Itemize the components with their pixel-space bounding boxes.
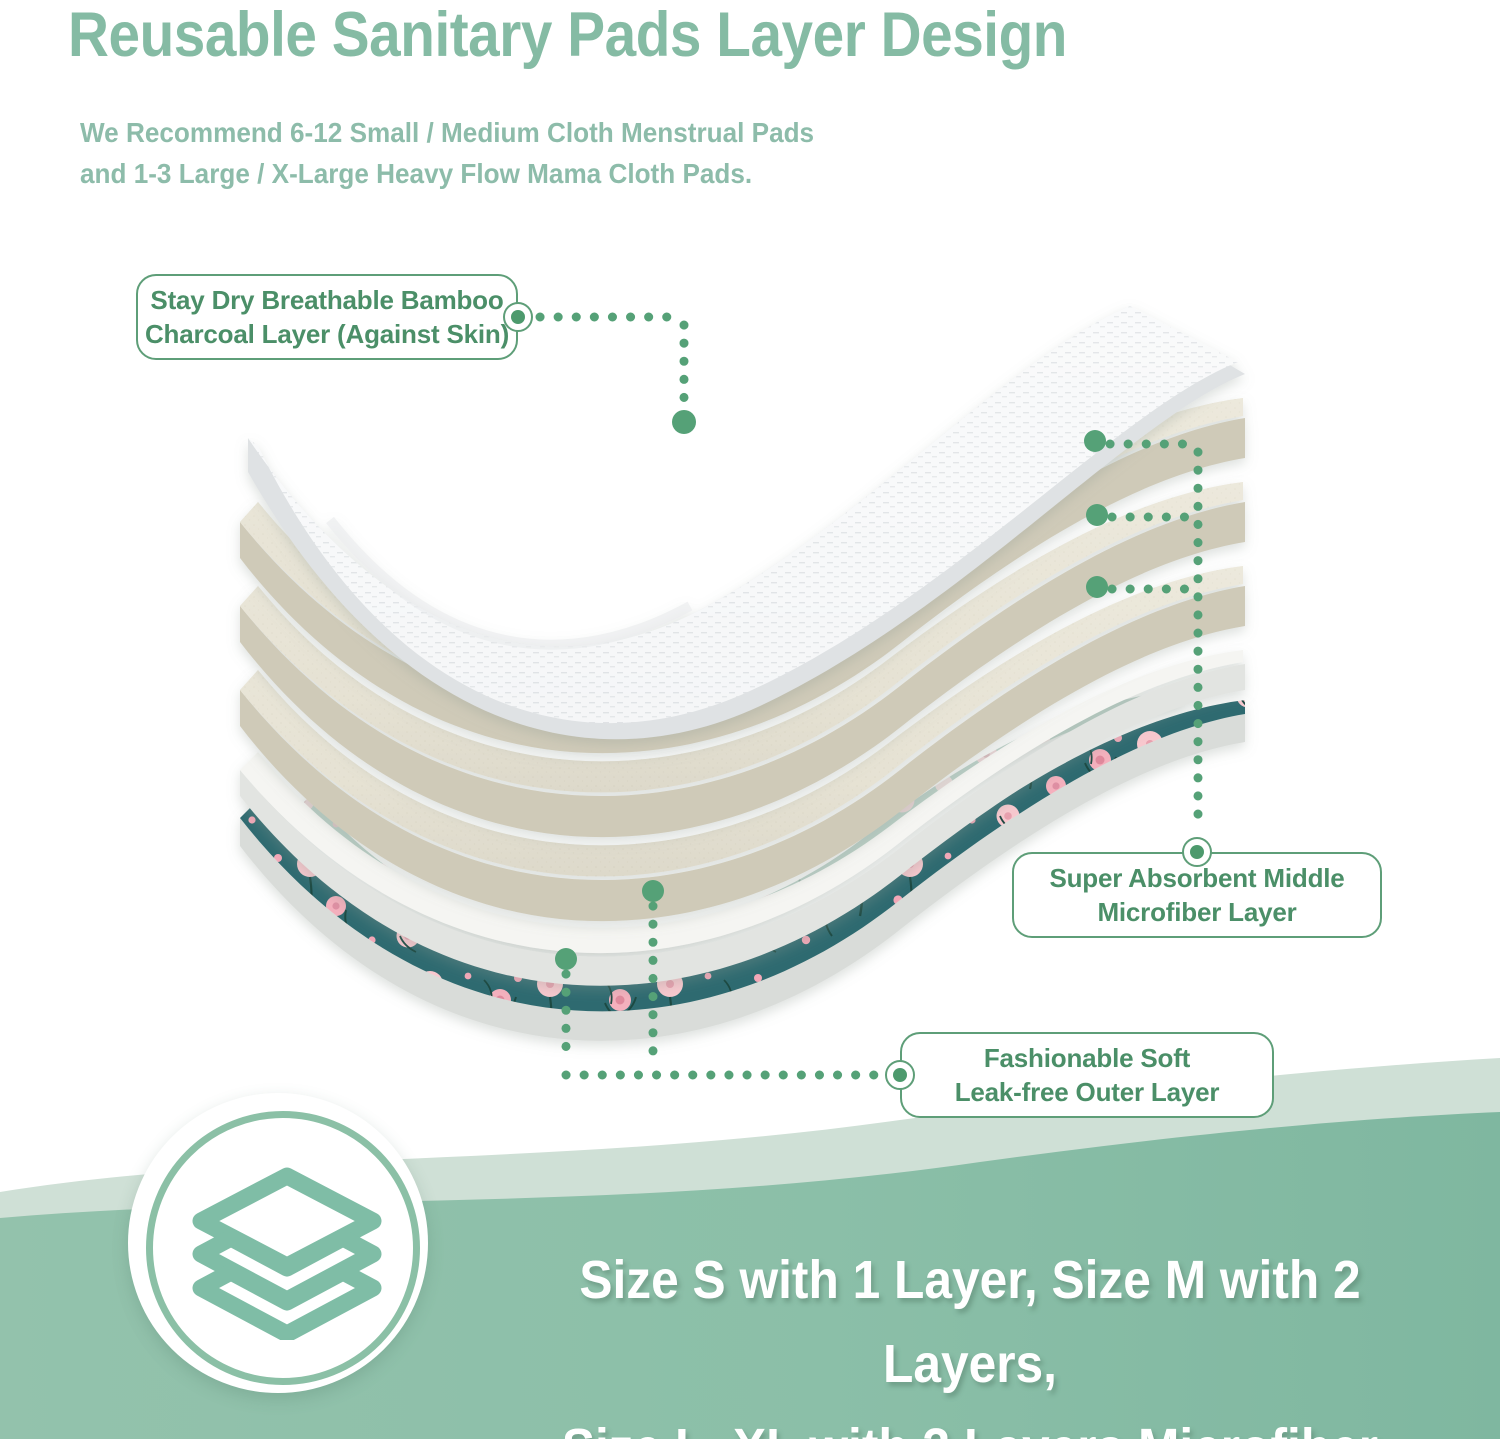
layers-stack-icon: [187, 1164, 387, 1340]
callout-bamboo-charcoal-label: Stay Dry Breathable Bamboo Charcoal Laye…: [145, 283, 509, 351]
layer-bamboo-charcoal-top: [248, 306, 1245, 739]
connector-ring-bamboo: [503, 302, 533, 332]
connector-floral: [555, 880, 880, 1075]
callout-outer-label: Fashionable Soft Leak-free Outer Layer: [955, 1041, 1220, 1109]
connector-ring-outer: [885, 1060, 915, 1090]
layer-microfiber-1: [240, 398, 1245, 753]
callout-outer-layer: Fashionable Soft Leak-free Outer Layer: [900, 1032, 1274, 1118]
banner-size-text: Size S with 1 Layer, Size M with 2 Layer…: [496, 1238, 1444, 1439]
connector-endpoint-dot: [642, 880, 664, 902]
connector-endpoint-dot: [672, 410, 696, 434]
page-title: Reusable Sanitary Pads Layer Design: [68, 2, 1238, 68]
connector-lines: [540, 317, 1198, 1075]
connector-endpoint-dot: [1086, 504, 1108, 526]
connector-endpoint-dot: [1086, 576, 1108, 598]
infographic-canvas: Reusable Sanitary Pads Layer Design We R…: [0, 0, 1500, 1439]
connector-microfiber: [1084, 430, 1198, 828]
callout-bamboo-charcoal-layer: Stay Dry Breathable Bamboo Charcoal Laye…: [136, 274, 518, 360]
callout-microfiber-label: Super Absorbent Middle Microfiber Layer: [1049, 861, 1344, 929]
connector-endpoint-dot: [555, 948, 577, 970]
connector-bamboo: [540, 317, 696, 434]
connector-ring-microfiber: [1182, 837, 1212, 867]
layer-microfiber-2: [240, 482, 1245, 837]
layers-badge: [128, 1093, 428, 1393]
connector-endpoint-dot: [1084, 430, 1106, 452]
page-subtitle: We Recommend 6-12 Small / Medium Cloth M…: [80, 112, 1173, 194]
